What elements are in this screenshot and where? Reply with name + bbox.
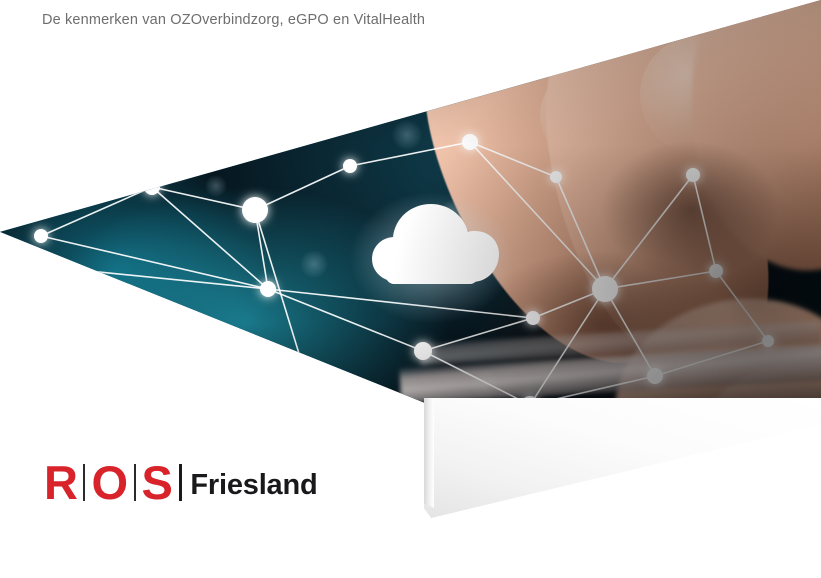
logo-divider-bar [179, 464, 182, 501]
ros-friesland-logo: R O S Friesland [44, 459, 318, 506]
page-fold-edge [424, 398, 434, 508]
logo-suffix-friesland: Friesland [190, 471, 317, 500]
logo-separator-2 [134, 464, 136, 501]
logo-letter-s: S [142, 459, 173, 506]
logo-letter-r: R [44, 459, 77, 506]
cover-page: De kenmerken van OZOverbindzorg, eGPO en… [0, 0, 821, 578]
logo-ros-wordmark: R O S [44, 459, 172, 506]
page-fold-shadow [424, 398, 821, 518]
logo-separator-1 [83, 464, 85, 501]
logo-letter-o: O [91, 459, 127, 506]
page-title: De kenmerken van OZOverbindzorg, eGPO en… [42, 12, 425, 28]
